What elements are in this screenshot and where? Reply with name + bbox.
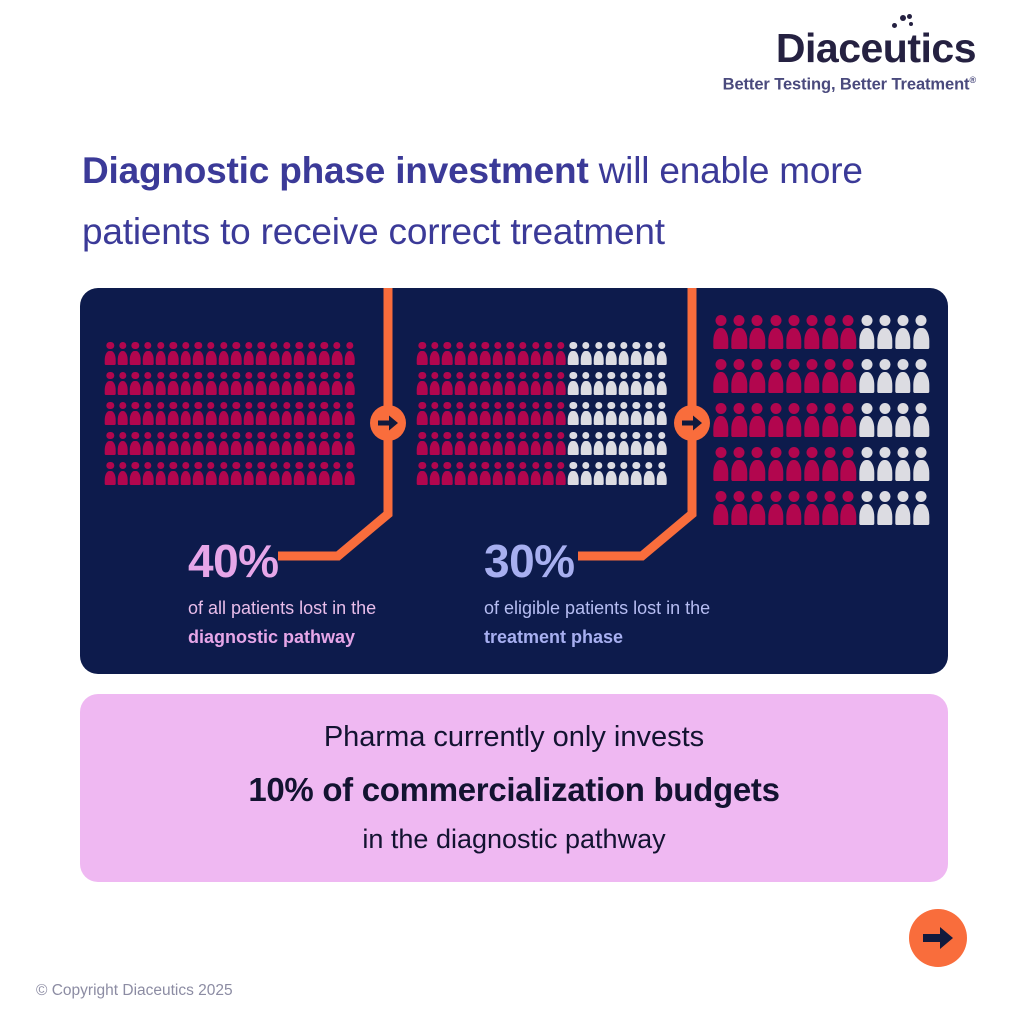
person-icon [318,370,331,400]
person-icon [429,340,442,370]
person-icon [643,400,656,430]
person-icon [479,460,492,490]
person-icon [343,370,356,400]
person-icon [839,312,857,356]
person-icon [839,444,857,488]
callout-line-2: 10% of commercialization budgets [248,769,779,810]
person-icon [504,370,517,400]
person-icon [730,312,748,356]
person-icon [655,400,668,430]
arrow-right-icon [378,415,398,431]
person-icon [618,370,631,400]
person-icon [858,312,876,356]
person-icon [466,370,479,400]
person-icon [748,488,766,532]
person-icon [142,340,155,370]
person-icon [912,356,930,400]
person-icon [180,460,193,490]
person-icon [117,340,130,370]
person-icon [192,370,205,400]
person-icon [180,340,193,370]
stat-treatment-phase: 30% of eligible patients lost in the tre… [484,537,784,649]
person-icon [492,370,505,400]
person-icon [293,430,306,460]
person-icon [542,400,555,430]
person-icon [517,400,530,430]
person-icon [255,370,268,400]
person-icon [255,430,268,460]
person-icon [643,340,656,370]
person-icon [104,370,117,400]
person-icon [504,460,517,490]
person-icon [454,430,467,460]
person-icon [429,460,442,490]
person-icon [167,400,180,430]
person-icon [416,460,429,490]
person-icon [280,460,293,490]
person-icon [243,340,256,370]
person-icon [655,430,668,460]
person-icon [205,460,218,490]
person-icon [154,430,167,460]
person-icon [912,400,930,444]
person-icon [592,370,605,400]
person-icon [748,444,766,488]
person-icon [858,488,876,532]
person-icon [730,400,748,444]
person-icon [580,460,593,490]
person-icon [217,460,230,490]
stat-label: treatment phase [484,626,784,649]
person-icon [876,444,894,488]
person-icon [785,488,803,532]
person-icon [479,400,492,430]
person-icon [318,340,331,370]
person-icon [517,430,530,460]
person-icon [839,400,857,444]
person-icon [894,488,912,532]
person-icon [748,400,766,444]
person-icon [542,340,555,370]
person-icon [268,370,281,400]
person-icon [839,488,857,532]
person-icon [894,400,912,444]
person-icon [217,400,230,430]
person-icon [821,444,839,488]
person-icon [618,340,631,370]
person-icon [441,370,454,400]
person-icon [555,430,568,460]
person-icon [767,488,785,532]
person-icon [117,430,130,460]
person-icon [180,430,193,460]
person-icon [280,370,293,400]
stat-value: 30% [484,537,784,585]
person-icon [655,340,668,370]
logo-tagline-text: Better Testing, Better Treatment [723,76,970,94]
person-icon [767,356,785,400]
person-icon [492,400,505,430]
person-icon [306,400,319,430]
person-icon [542,430,555,460]
person-icon [580,430,593,460]
person-icon [117,400,130,430]
person-icon [454,370,467,400]
arrow-right-icon [682,415,702,431]
person-icon [580,340,593,370]
person-icon [466,340,479,370]
person-icon [318,430,331,460]
person-icon [529,400,542,430]
person-icon [803,356,821,400]
person-icon [243,370,256,400]
person-icon [217,370,230,400]
person-icon [492,340,505,370]
copyright-notice: © Copyright Diaceutics 2025 [36,982,233,1000]
logo-dots-icon [892,14,918,32]
person-icon [230,460,243,490]
person-icon [255,400,268,430]
person-icon [167,340,180,370]
person-icon [542,460,555,490]
person-icon [630,340,643,370]
person-icon [280,430,293,460]
brand-logo: Diaceutics Better Testing, Better Treatm… [723,28,976,95]
person-icon [343,460,356,490]
person-icon [643,460,656,490]
person-icon [876,400,894,444]
person-icon [343,340,356,370]
person-icon [567,460,580,490]
person-icon [466,430,479,460]
person-icon [205,430,218,460]
person-icon [129,430,142,460]
stat-description: of eligible patients lost in the [484,597,784,620]
registered-mark-icon: ® [969,75,976,85]
person-icon [129,370,142,400]
person-icon [567,370,580,400]
person-icon [655,370,668,400]
person-icon [858,356,876,400]
person-icon [504,430,517,460]
stat-label: diagnostic pathway [188,626,468,649]
person-icon [343,400,356,430]
person-icon [712,488,730,532]
person-icon [243,460,256,490]
person-icon [655,460,668,490]
person-icon [894,356,912,400]
person-icon [517,340,530,370]
person-icon [280,340,293,370]
person-icon [230,430,243,460]
logo-wordmark-wrapper: Diaceutics [776,28,976,69]
person-icon [306,430,319,460]
person-icon [580,370,593,400]
person-icon [858,400,876,444]
person-icon [454,460,467,490]
people-grid-treated-patients [712,312,930,532]
person-icon [876,356,894,400]
person-icon [416,370,429,400]
person-icon [605,430,618,460]
person-icon [504,400,517,430]
person-icon [630,400,643,430]
person-icon [217,340,230,370]
person-icon [306,340,319,370]
headline-emphasis: Diagnostic phase investment [82,150,589,191]
person-icon [117,370,130,400]
person-icon [154,400,167,430]
person-icon [605,340,618,370]
person-icon [555,400,568,430]
person-icon [479,370,492,400]
person-icon [142,400,155,430]
person-icon [255,340,268,370]
person-icon [618,460,631,490]
person-icon [243,430,256,460]
stat-diagnostic-pathway: 40% of all patients lost in the diagnost… [188,537,468,649]
person-icon [876,312,894,356]
person-icon [331,430,344,460]
person-icon [192,340,205,370]
person-icon [517,370,530,400]
person-icon [318,400,331,430]
person-icon [441,340,454,370]
person-icon [104,430,117,460]
person-icon [466,460,479,490]
person-icon [894,312,912,356]
person-icon [748,356,766,400]
person-icon [466,400,479,430]
person-icon [268,460,281,490]
person-icon [712,444,730,488]
person-icon [492,460,505,490]
person-icon [441,400,454,430]
person-icon [730,444,748,488]
person-icon [154,340,167,370]
person-icon [205,340,218,370]
person-icon [318,460,331,490]
person-icon [730,356,748,400]
person-icon [839,356,857,400]
person-icon [192,460,205,490]
person-icon [567,400,580,430]
person-icon [504,340,517,370]
person-icon [454,400,467,430]
person-icon [479,340,492,370]
person-icon [104,460,117,490]
person-icon [730,488,748,532]
person-icon [605,370,618,400]
next-slide-button[interactable] [909,909,967,967]
person-icon [803,400,821,444]
person-icon [894,444,912,488]
person-icon [217,430,230,460]
person-icon [542,370,555,400]
person-icon [643,430,656,460]
person-icon [230,370,243,400]
person-icon [243,400,256,430]
people-grid-eligible-patients [416,340,668,490]
person-icon [876,488,894,532]
person-icon [555,370,568,400]
callout-line-1: Pharma currently only invests [324,719,704,755]
person-icon [912,488,930,532]
person-icon [142,370,155,400]
person-icon [416,340,429,370]
person-icon [180,370,193,400]
person-icon [104,340,117,370]
person-icon [167,460,180,490]
person-icon [293,400,306,430]
person-icon [441,430,454,460]
person-icon [618,400,631,430]
person-icon [492,430,505,460]
person-icon [429,370,442,400]
stat-value: 40% [188,537,468,585]
person-icon [167,430,180,460]
person-icon [268,430,281,460]
person-icon [567,430,580,460]
people-grid-all-patients [104,340,356,490]
person-icon [529,460,542,490]
person-icon [529,370,542,400]
person-icon [180,400,193,430]
person-icon [117,460,130,490]
logo-wordmark-text: Diaceutics [776,25,976,71]
funnel-arrow-node-2 [674,405,710,441]
person-icon [154,370,167,400]
person-icon [331,340,344,370]
patient-funnel-panel: 40% of all patients lost in the diagnost… [80,288,948,674]
person-icon [785,312,803,356]
person-icon [255,460,268,490]
person-icon [592,430,605,460]
person-icon [821,488,839,532]
person-icon [293,340,306,370]
page-headline: Diagnostic phase investment will enable … [82,140,962,263]
person-icon [785,356,803,400]
person-icon [268,400,281,430]
person-icon [630,430,643,460]
person-icon [821,400,839,444]
person-icon [605,400,618,430]
person-icon [167,370,180,400]
person-icon [230,400,243,430]
person-icon [803,488,821,532]
person-icon [803,312,821,356]
person-icon [912,444,930,488]
person-icon [821,356,839,400]
person-icon [567,340,580,370]
person-icon [205,400,218,430]
funnel-arrow-node-1 [370,405,406,441]
person-icon [785,444,803,488]
person-icon [555,340,568,370]
person-icon [205,370,218,400]
person-icon [142,430,155,460]
person-icon [192,430,205,460]
person-icon [331,370,344,400]
person-icon [767,312,785,356]
person-icon [429,400,442,430]
person-icon [479,430,492,460]
person-icon [331,460,344,490]
person-icon [192,400,205,430]
person-icon [767,400,785,444]
person-icon [712,356,730,400]
person-icon [293,370,306,400]
investment-callout-box: Pharma currently only invests 10% of com… [80,694,948,882]
person-icon [912,312,930,356]
person-icon [129,400,142,430]
callout-line-3: in the diagnostic pathway [362,823,665,857]
person-icon [803,444,821,488]
person-icon [785,400,803,444]
person-icon [630,460,643,490]
person-icon [555,460,568,490]
person-icon [104,400,117,430]
person-icon [858,444,876,488]
person-icon [605,460,618,490]
person-icon [529,340,542,370]
person-icon [429,430,442,460]
person-icon [821,312,839,356]
person-icon [129,340,142,370]
person-icon [767,444,785,488]
logo-tagline: Better Testing, Better Treatment® [723,75,976,95]
arrow-right-icon [923,926,953,950]
person-icon [580,400,593,430]
person-icon [268,340,281,370]
person-icon [712,312,730,356]
person-icon [343,430,356,460]
person-icon [154,460,167,490]
person-icon [630,370,643,400]
person-icon [331,400,344,430]
person-icon [306,460,319,490]
person-icon [517,460,530,490]
person-icon [643,370,656,400]
person-icon [454,340,467,370]
person-icon [306,370,319,400]
person-icon [142,460,155,490]
person-icon [416,400,429,430]
person-icon [129,460,142,490]
person-icon [441,460,454,490]
person-icon [712,400,730,444]
person-icon [592,400,605,430]
person-icon [618,430,631,460]
person-icon [592,460,605,490]
person-icon [529,430,542,460]
stat-description: of all patients lost in the [188,597,468,620]
person-icon [280,400,293,430]
person-icon [416,430,429,460]
person-icon [592,340,605,370]
person-icon [230,340,243,370]
person-icon [748,312,766,356]
person-icon [293,460,306,490]
